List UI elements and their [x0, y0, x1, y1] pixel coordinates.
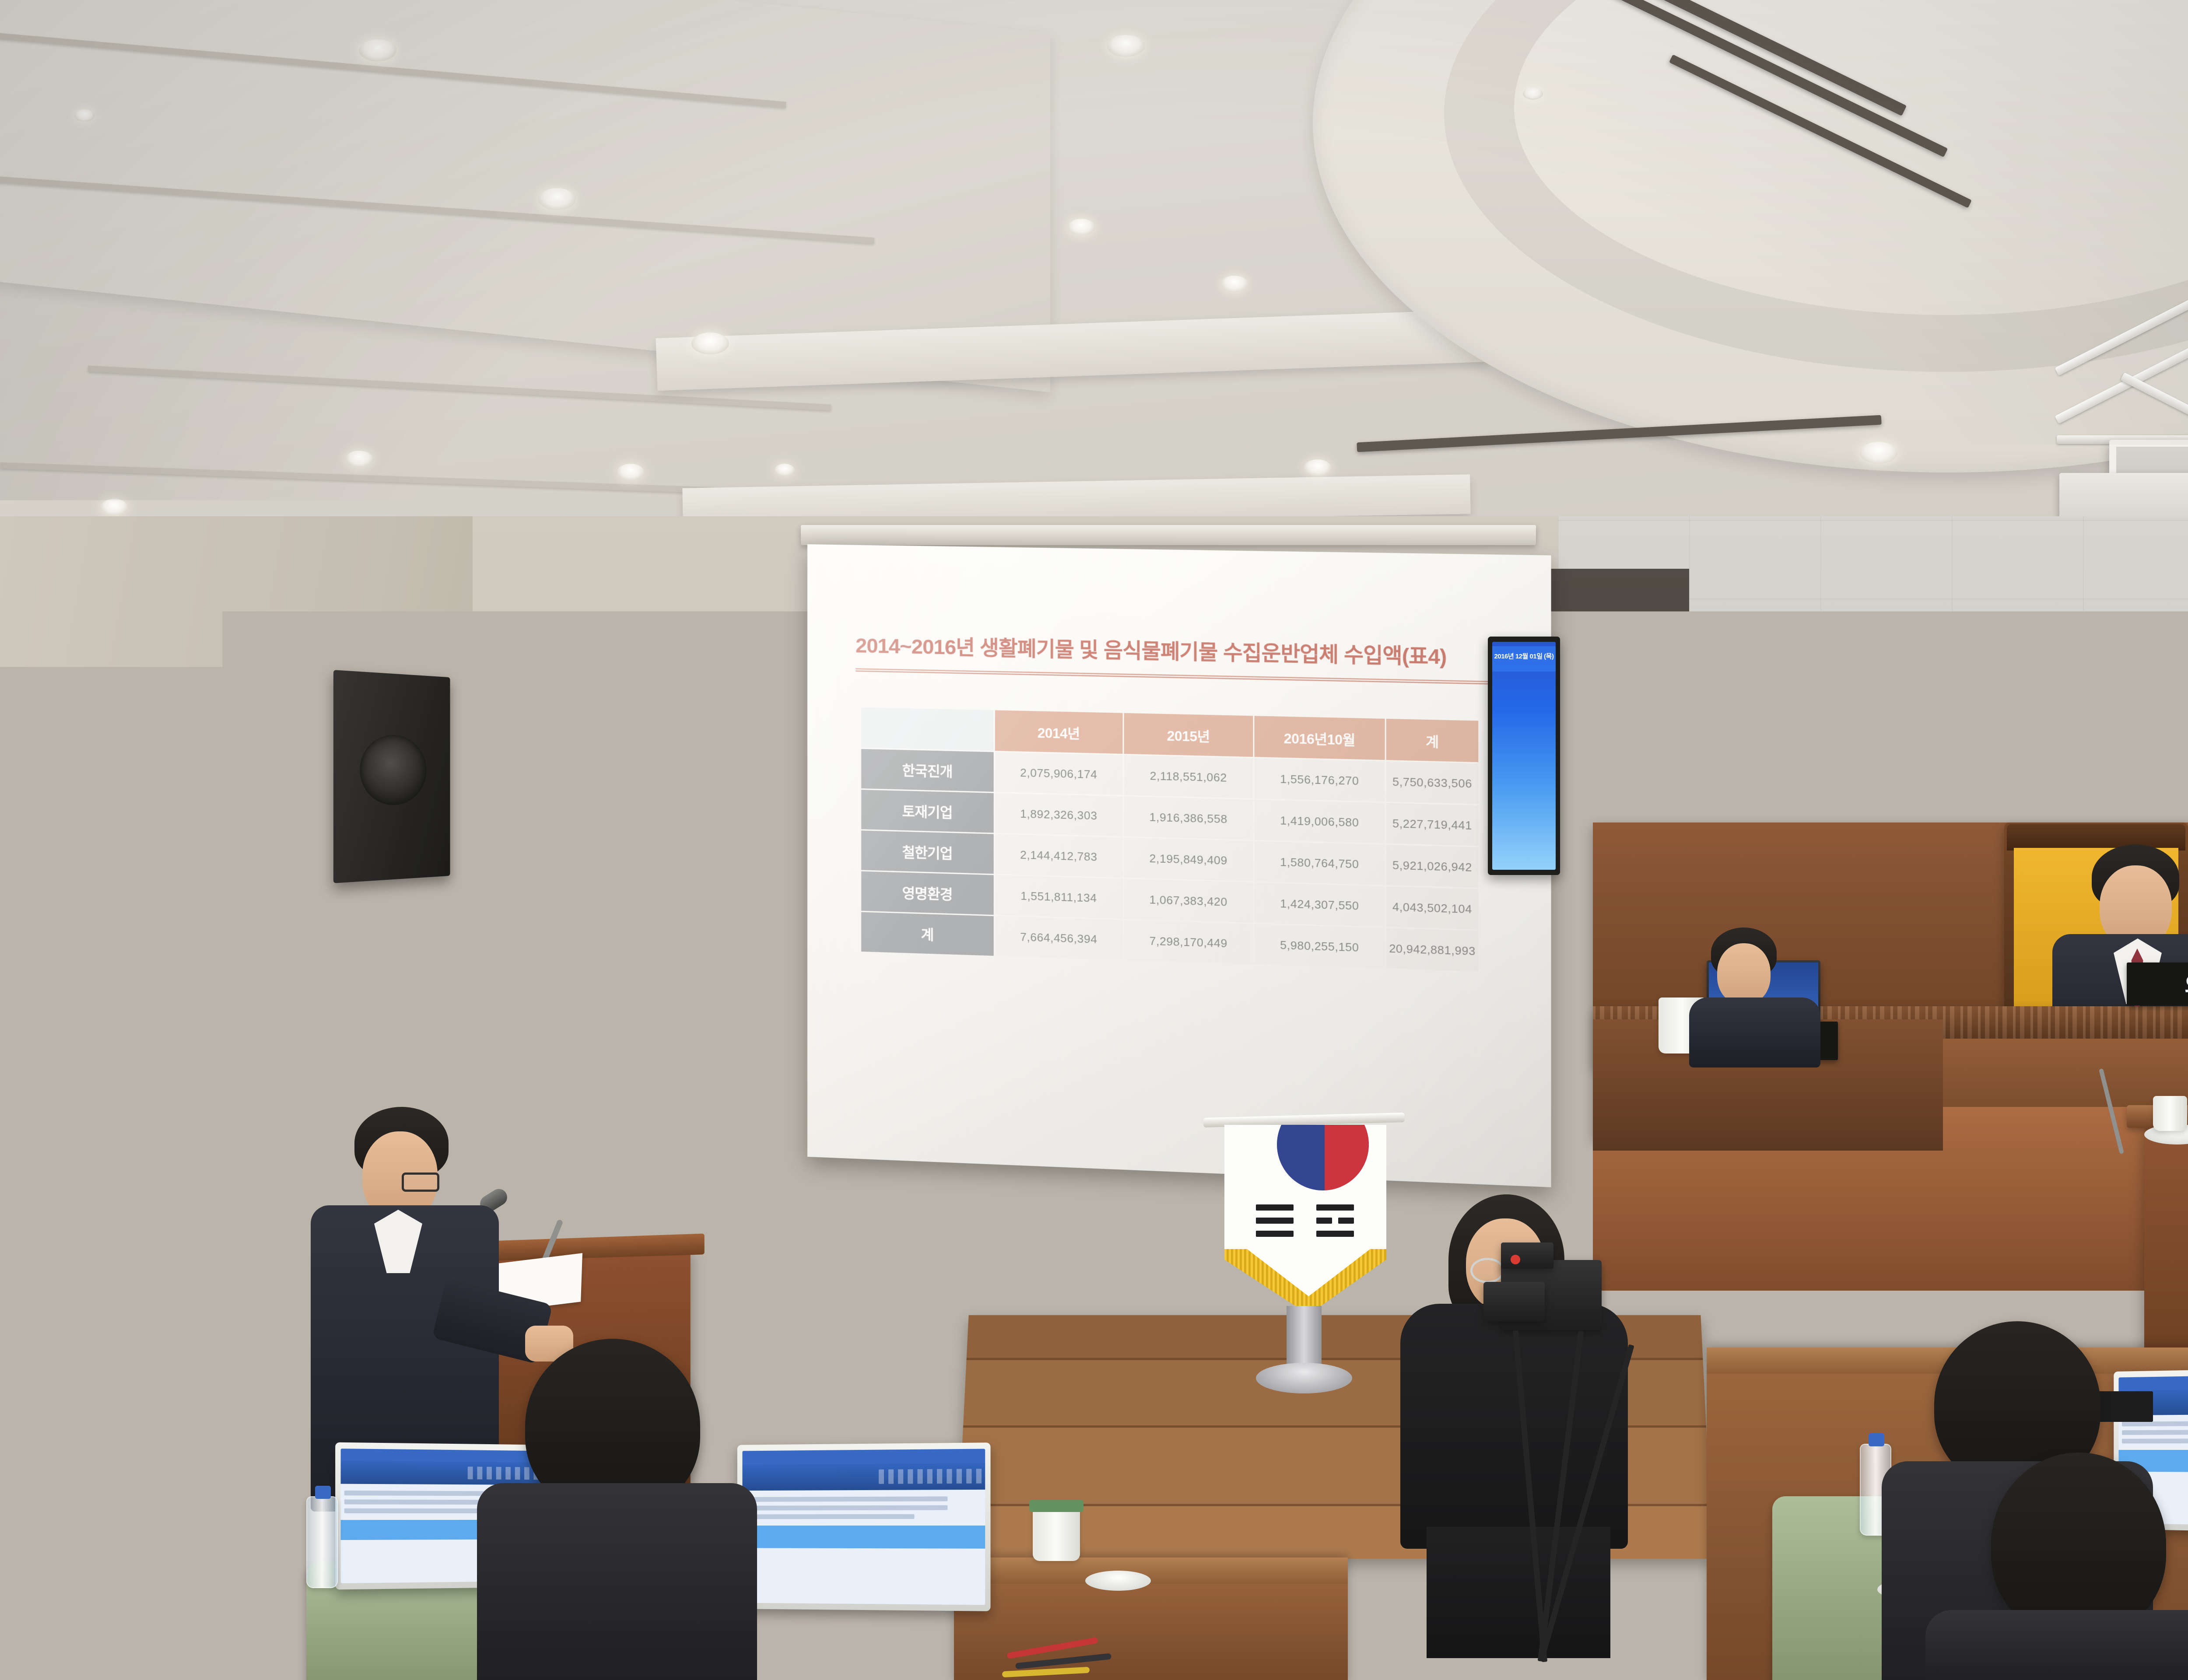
ceiling-downlight: [359, 39, 396, 61]
projector-scissor-lift: [2057, 363, 2188, 446]
coffee-cup: [2153, 1096, 2187, 1131]
flag-cloth: [1224, 1125, 1386, 1309]
legs: [1427, 1527, 1610, 1658]
laptop-screen: [742, 1449, 985, 1605]
ceiling-downlight: [775, 464, 795, 476]
ceiling-downlight: [74, 109, 95, 122]
ceiling-downlight: [1523, 87, 1543, 100]
cell-value: 7,664,456,394: [995, 916, 1123, 960]
content-row: [746, 1514, 914, 1519]
cell-value: 1,067,383,420: [1124, 879, 1253, 923]
trigram-bar: [1316, 1218, 1332, 1224]
cell-value: 1,916,386,558: [1124, 796, 1253, 840]
laptop-titlebar: [2118, 1373, 2188, 1390]
cell-total: 4,043,502,104: [1386, 886, 1478, 930]
wall-display-screen: 2016년 12월 01일 (목): [1492, 642, 1556, 870]
ceiling-downlight: [1068, 219, 1095, 235]
cell-value: 1,419,006,580: [1255, 800, 1385, 843]
row-label-total: 계: [861, 912, 994, 956]
chairman-nameplate: 의 장: [2127, 962, 2188, 1005]
row-label: 토재기업: [861, 790, 994, 833]
emblem-hub: [2001, 689, 2051, 740]
content-row: [746, 1496, 948, 1501]
audience-laptop-2[interactable]: [737, 1442, 991, 1611]
camera-mic: [1501, 1242, 1553, 1269]
camera-lcd-panel: [1483, 1282, 1545, 1321]
ceiling-downlight: [691, 332, 729, 354]
laptop-content-rows: [742, 1489, 985, 1525]
trigram-bar: [1256, 1204, 1294, 1211]
water-bottle: [306, 1496, 338, 1588]
audience-shoulders: [477, 1483, 757, 1680]
cell-value: 2,195,849,409: [1124, 838, 1253, 882]
row-label: 철한기업: [861, 830, 994, 874]
cell-grand-total: 20,942,881,993: [1386, 928, 1478, 971]
cup-lid: [1029, 1500, 1083, 1512]
cell-total: 5,921,026,942: [1386, 845, 1478, 888]
projection-screen-housing: [801, 525, 1536, 545]
speaker-bracket-pole: [289, 857, 298, 958]
ceiling-downlight: [1304, 459, 1331, 476]
slide-title-rule: [856, 668, 1495, 685]
head: [1717, 943, 1771, 1004]
row-label: 영명환경: [861, 871, 994, 915]
audience-head-back: [1991, 1452, 2166, 1636]
ceiling-downlight: [617, 464, 644, 480]
camera-record-light: [1511, 1255, 1520, 1264]
eyeglasses-icon: [1470, 1258, 1504, 1283]
col-header-2014: 2014년: [995, 710, 1123, 754]
content-row: [2122, 1429, 2188, 1435]
row-label: 한국진개: [861, 749, 994, 792]
speaker-cone: [360, 734, 426, 805]
cell-value: 1,892,326,303: [995, 793, 1123, 836]
cell-total: 5,750,633,506: [1386, 761, 1478, 804]
flag-stand-base: [1256, 1363, 1352, 1393]
trigram-bar: [1256, 1231, 1294, 1237]
table-corner-cell: [861, 707, 994, 751]
content-row: [746, 1505, 948, 1510]
torso: [1689, 997, 1820, 1067]
trigram-bar: [1316, 1231, 1354, 1237]
table-total-row: 계 7,664,456,394 7,298,170,449 5,980,255,…: [861, 912, 1478, 972]
paper-cup: [1033, 1505, 1080, 1561]
trigram-bar: [1316, 1204, 1354, 1211]
ceiling-downlight: [346, 451, 373, 467]
wall-information-display: 2016년 12월 01일 (목): [1488, 637, 1560, 875]
cell-value: 1,556,176,270: [1255, 758, 1385, 801]
chamber-photo: 2014~2016년 생활폐기물 및 음식물폐기물 수집운반업체 수입액(표4)…: [0, 0, 2188, 1680]
south-korean-flag: [1212, 1118, 1396, 1398]
desk-top-edge: [954, 1557, 1348, 1584]
slide-data-table: 2014년 2015년 2016년10월 계 한국진개 2,075,906,17…: [860, 706, 1480, 973]
slide-title: 2014~2016년 생활폐기물 및 음식물폐기물 수집운반업체 수입액(표4): [856, 628, 1495, 671]
cell-value: 2,118,551,062: [1124, 755, 1253, 798]
cell-value: 1,580,764,750: [1255, 841, 1385, 885]
wall-display-date: 2016년 12월 01일 (목): [1492, 651, 1556, 661]
desk-device: [144, 1654, 228, 1680]
curtain-rail: [376, 949, 665, 965]
audience-shoulders: [1925, 1610, 2188, 1680]
content-row: [2122, 1438, 2188, 1444]
gold-star-emblem-icon: [1960, 652, 2092, 783]
content-row: [344, 1508, 500, 1513]
wall-speaker: [333, 670, 450, 883]
laptop-highlight-row: [742, 1525, 985, 1549]
trigram-bar: [1338, 1218, 1354, 1224]
cell-value: 2,144,412,783: [995, 834, 1123, 878]
secretary-person: [1694, 927, 1825, 1050]
ceiling-downlight: [538, 188, 576, 210]
projection-screen: 2014~2016년 생활폐기물 및 음식물폐기물 수집운반업체 수입액(표4)…: [807, 544, 1551, 1187]
cell-value: 1,551,811,134: [995, 875, 1123, 919]
cell-value: 7,298,170,449: [1124, 920, 1253, 964]
saucer: [1085, 1571, 1151, 1591]
member-desk-left: [954, 1557, 1348, 1680]
laptop-titlebar: [742, 1449, 985, 1465]
ceiling-downlight: [1860, 442, 1897, 464]
laptop-navbar: [742, 1463, 985, 1491]
eyeglasses-icon: [402, 1172, 439, 1192]
cell-value: 5,980,255,150: [1255, 924, 1385, 968]
col-header-2015: 2015년: [1124, 713, 1253, 757]
col-header-2016: 2016년10월: [1255, 716, 1385, 760]
laptop-navbar: [341, 1461, 561, 1485]
cell-value: 1,424,307,550: [1255, 882, 1385, 927]
cell-total: 5,227,719,441: [1386, 803, 1478, 846]
trigram-bar: [1256, 1218, 1294, 1224]
ceiling-downlight: [101, 499, 128, 515]
col-header-total: 계: [1386, 719, 1478, 762]
flag-stand-pole: [1287, 1306, 1322, 1372]
ceiling-downlight: [1221, 276, 1248, 292]
ceiling-downlight: [1107, 35, 1145, 57]
cell-value: 2,075,906,174: [995, 752, 1123, 795]
